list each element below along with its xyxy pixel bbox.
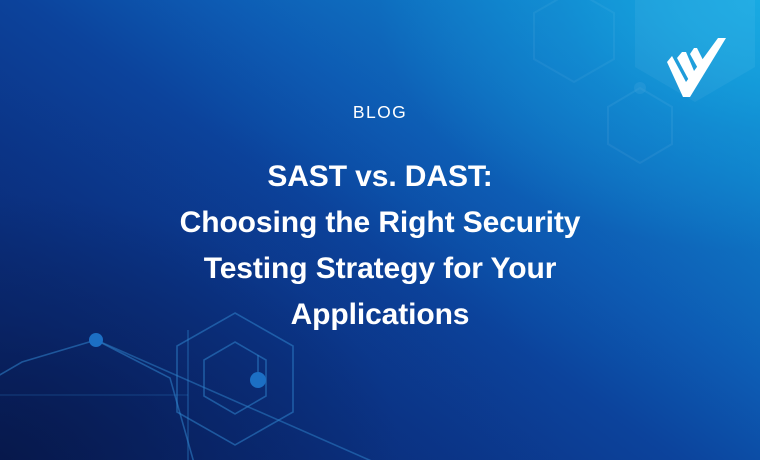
page-title: SAST vs. DAST: Choosing the Right Securi… [52,154,708,338]
blog-hero-banner: BLOG SAST vs. DAST: Choosing the Right S… [0,0,760,460]
title-block: BLOG SAST vs. DAST: Choosing the Right S… [0,104,760,338]
headline-line-1: SAST vs. DAST: [52,154,708,200]
headline-line-4: Applications [52,292,708,338]
eyebrow-label: BLOG [52,104,708,122]
headline-line-2: Choosing the Right Security [52,200,708,246]
headline-line-3: Testing Strategy for Your [52,246,708,292]
